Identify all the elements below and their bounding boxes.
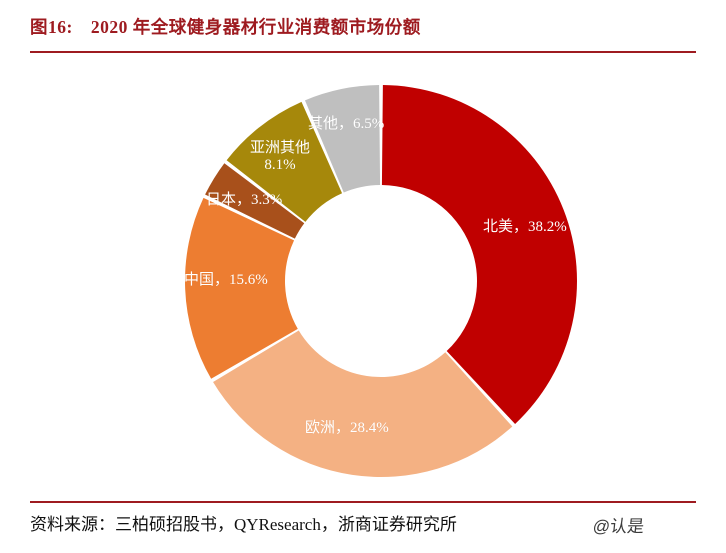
footer-divider <box>30 501 696 503</box>
figure-header: 图16: 2020 年全球健身器材行业消费额市场份额 <box>30 14 696 54</box>
figure-title-text: 2020 年全球健身器材行业消费额市场份额 <box>91 14 421 39</box>
page-title: 图16: 2020 年全球健身器材行业消费额市场份额 <box>30 14 696 39</box>
donut-chart: 北美，38.2% 欧洲，28.4% 中国，15.6% 日本，3.3% 亚洲其他 … <box>0 58 726 498</box>
figure-page: 图16: 2020 年全球健身器材行业消费额市场份额 北美，38.2% 欧洲，2… <box>0 0 726 553</box>
donut-chart-svg <box>0 58 726 498</box>
figure-number: 图16: <box>30 14 73 39</box>
header-divider <box>30 51 696 53</box>
donut-slice-group <box>185 85 577 477</box>
watermark: @认是 <box>592 512 646 537</box>
